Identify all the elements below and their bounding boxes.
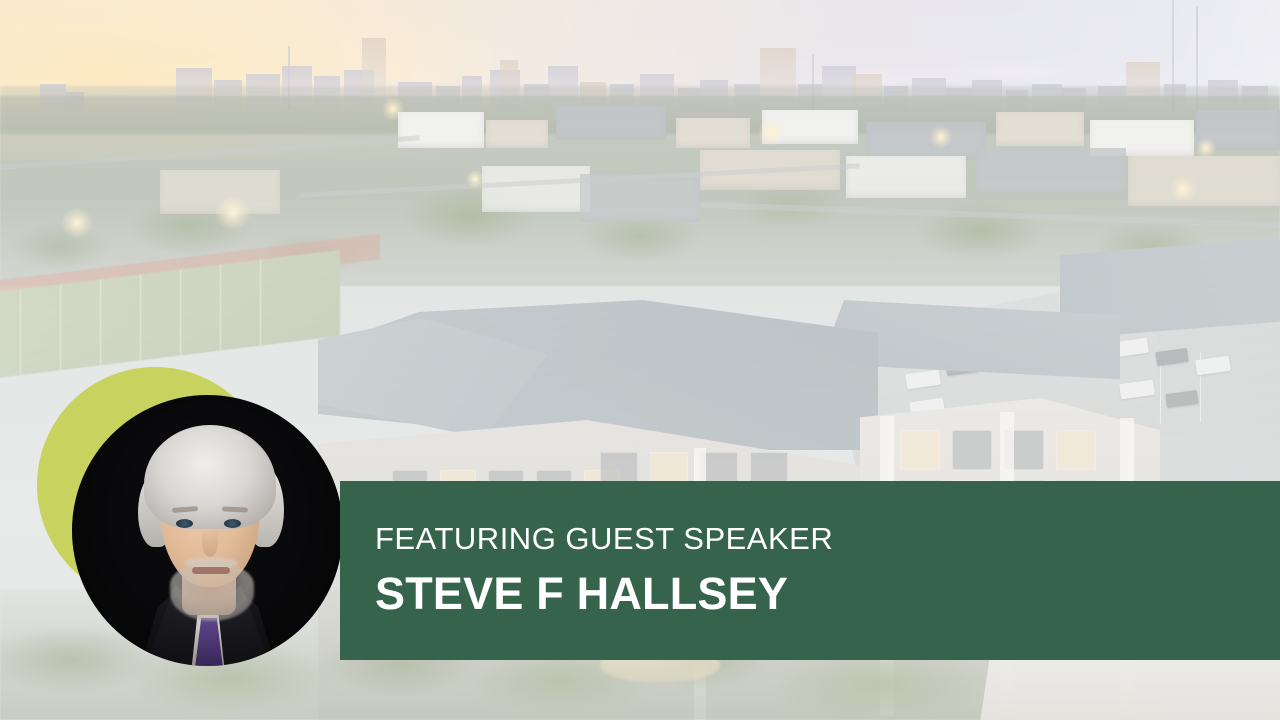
speaker-banner: FEATURING GUEST SPEAKER STEVE F HALLSEY [340,481,1280,660]
portrait-vignette [72,395,343,666]
speaker-name-text: STEVE F HALLSEY [375,568,1280,620]
speaker-portrait [72,395,343,666]
banner-eyebrow-text: FEATURING GUEST SPEAKER [375,521,1280,557]
slide-canvas: FEATURING GUEST SPEAKER STEVE F HALLSEY [0,0,1280,720]
